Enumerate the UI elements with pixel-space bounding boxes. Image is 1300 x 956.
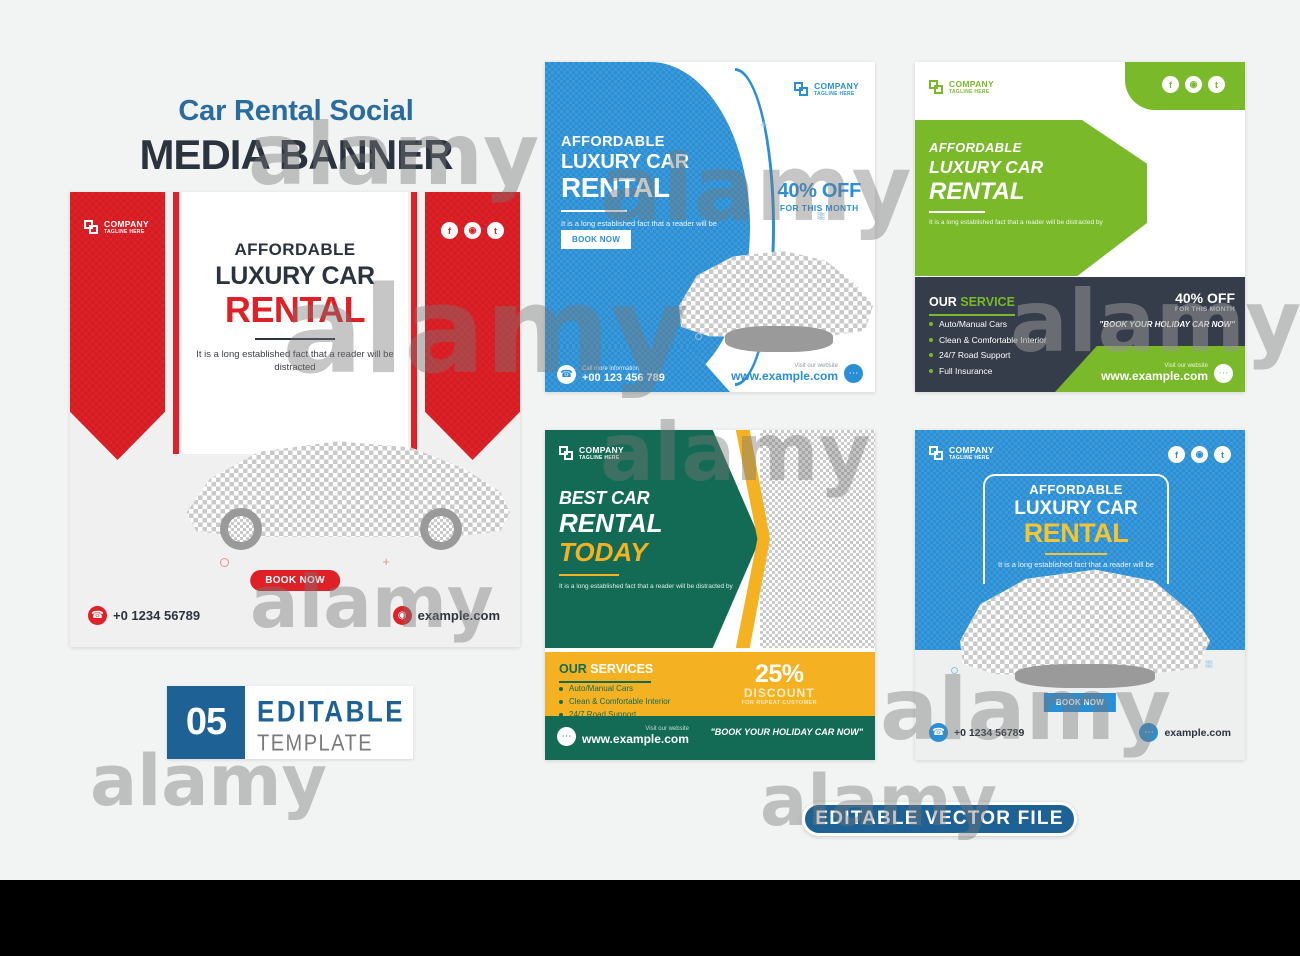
template-count: 05 <box>167 686 245 759</box>
instagram-icon[interactable]: ◉ <box>464 222 481 239</box>
logo-mark-icon <box>929 446 944 461</box>
green-headline-3: RENTAL <box>929 178 1119 206</box>
poster-blue[interactable]: COMPANY TAGLINE HERE AFFORDABLE LUXURY C… <box>545 62 875 392</box>
list-item: Clean & Comfortable Interior <box>559 697 670 706</box>
twitter-icon[interactable]: t <box>487 222 504 239</box>
logo-tagline: TAGLINE HERE <box>949 90 994 95</box>
offer-percent: 40% OFF <box>1175 290 1235 306</box>
logo-company-name: COMPANY <box>949 446 994 455</box>
car-image-placeholder <box>180 437 510 542</box>
green-headline-1: AFFORDABLE <box>929 140 1119 155</box>
logo-tagline: TAGLINE HERE <box>814 92 859 97</box>
artboard: Car Rental Social MEDIA BANNER COMPANY T… <box>0 0 1300 880</box>
service-title-part1: OUR <box>559 662 590 676</box>
teal-headline-2: RENTAL <box>559 508 739 539</box>
holiday-quote: "BOOK YOUR HOLIDAY CAR NOW" <box>1099 319 1235 330</box>
offer-percent: 40% OFF <box>778 180 861 203</box>
website-contact[interactable]: ⋯ Visit our website www.example.com <box>557 726 689 746</box>
divider <box>929 211 985 213</box>
website-url: www.example.com <box>1101 369 1208 383</box>
list-item: 24/7 Road Support <box>929 350 1047 360</box>
brand-logo: COMPANY TAGLINE HERE <box>929 446 994 461</box>
divider <box>561 210 627 212</box>
editable-template-badge: 05 EDITABLE TEMPLATE <box>167 686 413 759</box>
poster-teal[interactable]: COMPANY TAGLINE HERE BEST CAR RENTAL TOD… <box>545 430 875 760</box>
template-label-template: TEMPLATE <box>257 731 403 757</box>
service-title: OUR SERVICE <box>929 293 1015 316</box>
phone-number: +0 1234 56789 <box>954 727 1024 739</box>
service-title: OUR SERVICES <box>559 660 653 683</box>
website-url: example.com <box>418 608 500 623</box>
decoration-plus: + <box>760 117 768 132</box>
logo-tagline: TAGLINE HERE <box>579 456 624 461</box>
stock-watermark-bar: alamy Image ID: 2KH17T1 www.alamy.com <box>0 880 1300 956</box>
logo-mark-icon <box>84 220 99 235</box>
logo-tagline: TAGLINE HERE <box>949 456 994 461</box>
title-line-main: MEDIA BANNER <box>70 131 522 179</box>
red-accent-bar-right <box>411 192 417 454</box>
teal-footer-panel: ⋯ Visit our website www.example.com "BOO… <box>545 716 875 760</box>
poster-blue-square[interactable]: COMPANY TAGLINE HERE f ◉ t AFFORDABLE LU… <box>915 430 1245 760</box>
list-item: Auto/Manual Cars <box>929 319 1047 329</box>
globe-icon: ⋯ <box>1214 364 1233 383</box>
teal-headline-group: BEST CAR RENTAL TODAY It is a long estab… <box>559 488 739 592</box>
divider <box>559 681 651 683</box>
logo-mark-icon <box>794 82 809 97</box>
bullet-icon <box>929 322 933 326</box>
book-now-button[interactable]: BOOK NOW <box>1044 693 1116 712</box>
car-image-placeholder <box>673 247 873 342</box>
discount-note: FOR REPEAT CUSTOMER <box>741 700 817 706</box>
red-accent-bar-left <box>173 192 179 454</box>
instagram-icon[interactable]: ◉ <box>1191 446 1208 463</box>
brand-logo: COMPANY TAGLINE HERE <box>794 82 859 97</box>
service-label: Auto/Manual Cars <box>569 684 633 693</box>
service-label: Clean & Comfortable Interior <box>569 697 670 706</box>
service-title-part2: SERVICES <box>590 662 653 676</box>
logo-company-name: COMPANY <box>104 220 149 229</box>
red-headline-group: AFFORDABLE LUXURY CAR RENTAL It is a lon… <box>182 240 408 374</box>
blue-square-headline-1: AFFORDABLE <box>983 482 1169 497</box>
service-label: Full Insurance <box>939 366 992 376</box>
page-title: Car Rental Social MEDIA BANNER <box>70 95 522 179</box>
phone-icon: ☎ <box>88 606 107 625</box>
blue-headline-1: AFFORDABLE <box>561 134 746 150</box>
book-now-button[interactable]: BOOK NOW <box>250 570 340 591</box>
service-label: Auto/Manual Cars <box>939 319 1007 329</box>
social-links[interactable]: f ◉ t <box>441 222 504 239</box>
social-links[interactable]: f ◉ t <box>1162 76 1225 93</box>
car-image-placeholder <box>760 430 875 648</box>
facebook-icon[interactable]: f <box>1162 76 1179 93</box>
logo-mark-icon <box>559 446 574 461</box>
blue-headline-3: RENTAL <box>561 172 746 204</box>
decoration-circle <box>951 667 958 674</box>
car-wheel-right <box>420 508 462 550</box>
blue-headline-2: LUXURY CAR <box>561 151 746 174</box>
offer-block: 40% OFF FOR THIS MONTH <box>1175 290 1235 313</box>
red-headline-3: RENTAL <box>182 289 408 331</box>
brand-logo: COMPANY TAGLINE HERE <box>559 446 624 461</box>
phone-icon: ☎ <box>929 723 948 742</box>
green-headline-2: LUXURY CAR <box>929 157 1119 178</box>
twitter-icon[interactable]: t <box>1214 446 1231 463</box>
divider <box>1045 553 1107 555</box>
red-headline-1: AFFORDABLE <box>182 240 408 260</box>
teal-headline-3: TODAY <box>559 537 739 568</box>
bullet-icon <box>559 687 563 691</box>
globe-icon: ⋯ <box>557 727 576 746</box>
discount-percent: 25% <box>741 660 817 689</box>
offer-period: FOR THIS MONTH <box>1175 306 1235 313</box>
instagram-icon[interactable]: ◉ <box>1185 76 1202 93</box>
discount-block: 25% DISCOUNT FOR REPEAT CUSTOMER <box>741 660 817 706</box>
bullet-icon <box>929 369 933 373</box>
social-links[interactable]: f ◉ t <box>1168 446 1231 463</box>
green-headline-group: AFFORDABLE LUXURY CAR RENTAL It is a lon… <box>929 140 1119 228</box>
discount-label: DISCOUNT <box>741 686 817 700</box>
facebook-icon[interactable]: f <box>1168 446 1185 463</box>
phone-number: +0 1234 56789 <box>113 608 200 623</box>
poster-green[interactable]: f ◉ t COMPANY TAGLINE HERE AFFORDABLE LU… <box>915 62 1245 392</box>
divider <box>255 338 335 340</box>
phone-contact[interactable]: ☎ +0 1234 56789 <box>929 723 1024 742</box>
logo-mark-icon <box>929 80 944 95</box>
website-url: example.com <box>1164 727 1231 739</box>
logo-company-name: COMPANY <box>814 82 859 91</box>
globe-icon: ⋯ <box>844 364 863 383</box>
blue-square-headline-3: RENTAL <box>983 518 1169 549</box>
globe-icon: ◉ <box>393 606 412 625</box>
blue-headline-group: AFFORDABLE LUXURY CAR RENTAL It is a lon… <box>561 134 746 240</box>
brand-logo: COMPANY TAGLINE HERE <box>929 80 994 95</box>
service-title-part1: OUR <box>929 295 960 309</box>
red-headline-2: LUXURY CAR <box>182 262 408 291</box>
twitter-icon[interactable]: t <box>1208 76 1225 93</box>
website-contact[interactable]: Visit our website www.example.com ⋯ <box>1101 363 1233 383</box>
yellow-services-panel: OUR SERVICES Auto/Manual Cars Clean & Co… <box>545 652 875 716</box>
website-contact[interactable]: Visit our website www.example.com ⋯ <box>731 363 863 383</box>
holiday-quote: "BOOK YOUR HOLIDAY CAR NOW" <box>710 726 863 738</box>
car-wheel-left <box>220 508 262 550</box>
divider <box>929 314 1015 316</box>
book-now-button[interactable]: BOOK NOW <box>561 230 631 249</box>
service-label: Clean & Comfortable Interior <box>939 335 1047 345</box>
website-url: www.example.com <box>582 732 689 746</box>
service-title-part2: SERVICE <box>960 295 1015 309</box>
decoration-circle <box>220 558 229 567</box>
phone-icon: ☎ <box>557 365 576 384</box>
editable-vector-badge: EDITABLE VECTOR FILE <box>802 802 1077 836</box>
bullet-icon <box>929 338 933 342</box>
logo-company-name: COMPANY <box>579 446 624 455</box>
blue-square-headline-2: LUXURY CAR <box>983 498 1169 520</box>
logo-company-name: COMPANY <box>949 80 994 89</box>
decoration-plus: + <box>382 554 390 569</box>
list-item: Full Insurance <box>929 366 1047 376</box>
teal-headline-1: BEST CAR <box>559 488 739 509</box>
facebook-icon[interactable]: f <box>441 222 458 239</box>
green-dark-footer: OUR SERVICE Auto/Manual Cars Clean & Com… <box>915 277 1245 392</box>
red-subtext: It is a long established fact that a rea… <box>182 348 408 374</box>
service-label: 24/7 Road Support <box>939 350 1010 360</box>
phone-number: +00 123 456 789 <box>582 372 665 384</box>
bullet-icon <box>559 700 563 704</box>
globe-icon: ⋯ <box>1139 723 1158 742</box>
logo-tagline: TAGLINE HERE <box>104 230 149 235</box>
website-url: www.example.com <box>731 369 838 383</box>
green-subtext: It is a long established fact that a rea… <box>929 218 1119 228</box>
wave-decoration: ≈≈≈≈ <box>1205 660 1211 668</box>
service-list: Auto/Manual Cars Clean & Comfortable Int… <box>929 319 1047 381</box>
brand-logo: COMPANY TAGLINE HERE <box>84 220 149 235</box>
list-item: Auto/Manual Cars <box>559 684 670 693</box>
website-contact[interactable]: ◉ example.com <box>393 606 500 625</box>
phone-contact[interactable]: ☎ Call more information +00 123 456 789 <box>557 365 665 384</box>
car-image-placeholder <box>955 565 1210 680</box>
wave-decoration: ≈≈≈≈ <box>817 212 823 220</box>
phone-contact[interactable]: ☎ +0 1234 56789 <box>88 606 200 625</box>
divider <box>559 574 619 576</box>
bullet-icon <box>929 353 933 357</box>
list-item: Clean & Comfortable Interior <box>929 335 1047 345</box>
template-label-editable: EDITABLE <box>257 694 403 730</box>
teal-subtext: It is a long established fact that a rea… <box>559 582 739 592</box>
title-line-top: Car Rental Social <box>70 95 522 128</box>
website-contact[interactable]: ⋯ example.com <box>1139 723 1231 742</box>
poster-red[interactable]: COMPANY TAGLINE HERE f ◉ t AFFORDABLE LU… <box>70 192 520 647</box>
